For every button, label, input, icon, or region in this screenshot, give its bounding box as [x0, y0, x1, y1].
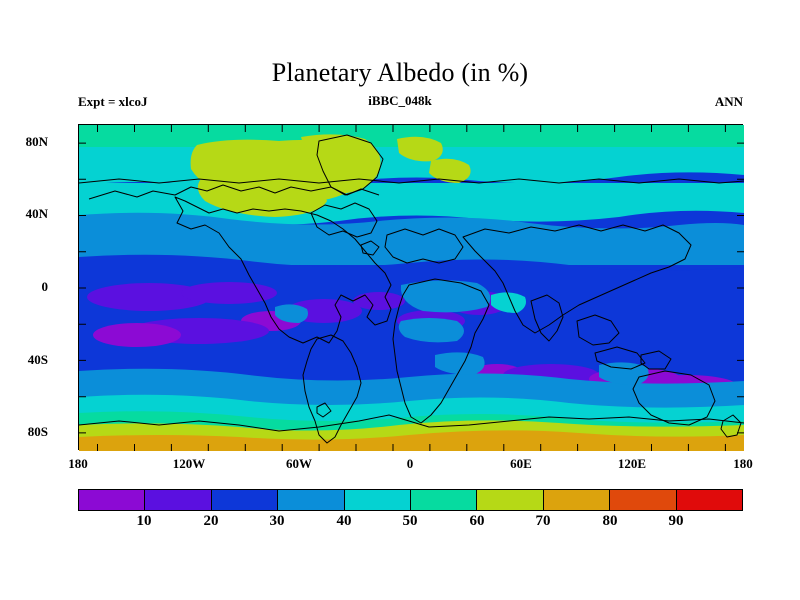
colorbar-band-8	[610, 490, 676, 510]
figure-canvas: Planetary Albedo (in %) iBBC_048k Expt =…	[0, 0, 800, 600]
colorbar-tick-60: 60	[447, 513, 507, 530]
colorbar-band-5	[411, 490, 477, 510]
x-axis-tick-120e: 120E	[592, 456, 672, 472]
colorbar-band-4	[345, 490, 411, 510]
albedo-contour-map	[79, 125, 744, 451]
colorbar-tick-40: 40	[314, 513, 374, 530]
colorbar-tick-80: 80	[580, 513, 640, 530]
x-axis-tick-180e: 180	[703, 456, 783, 472]
y-axis-tick-80n: 80N	[0, 134, 48, 150]
x-axis-tick-0: 0	[370, 456, 450, 472]
x-axis-tick-60w: 60W	[259, 456, 339, 472]
colorbar-band-2	[212, 490, 278, 510]
albedo-map-plot	[78, 124, 743, 450]
colorbar-band-7	[544, 490, 610, 510]
season-label: ANN	[0, 94, 743, 110]
colorbar-tick-70: 70	[513, 513, 573, 530]
y-axis-tick-40s: 40S	[0, 352, 48, 368]
colorbar-tick-20: 20	[181, 513, 241, 530]
y-axis-tick-40n: 40N	[0, 206, 48, 222]
colorbar-band-3	[278, 490, 344, 510]
colorbar	[78, 489, 743, 511]
page-title: Planetary Albedo (in %)	[0, 58, 800, 88]
colorbar-band-9	[677, 490, 742, 510]
colorbar-band-6	[477, 490, 543, 510]
colorbar-tick-10: 10	[114, 513, 174, 530]
colorbar-tick-50: 50	[380, 513, 440, 530]
x-axis-tick-60e: 60E	[481, 456, 561, 472]
x-axis-tick-120w: 120W	[149, 456, 229, 472]
y-axis-tick-0: 0	[0, 279, 48, 295]
colorbar-band-0	[79, 490, 145, 510]
colorbar-tick-90: 90	[646, 513, 706, 530]
colorbar-band-1	[145, 490, 211, 510]
contour-fill-layer	[79, 125, 744, 451]
y-axis-tick-80s: 80S	[0, 424, 48, 440]
x-axis-tick-180w: 180	[38, 456, 118, 472]
colorbar-tick-30: 30	[247, 513, 307, 530]
